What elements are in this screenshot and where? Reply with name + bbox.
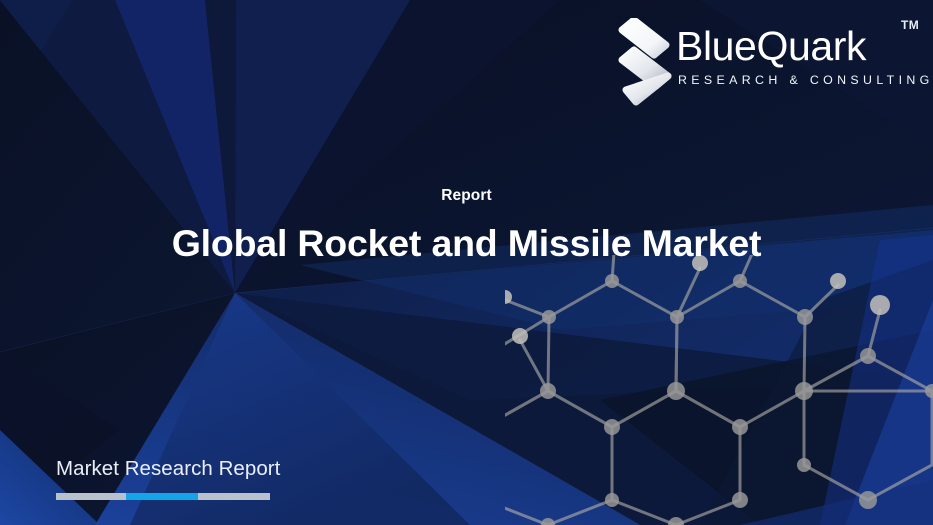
double-chevron-logo-icon xyxy=(618,18,680,106)
report-kicker-label: Report xyxy=(0,186,933,206)
report-cover-page: BlueQuark RESEARCH & CONSULTING TM Repor… xyxy=(0,0,933,525)
rule-segment-gray-left xyxy=(56,493,126,500)
footer-accent-rule xyxy=(56,493,270,500)
brand-name: BlueQuark xyxy=(676,22,914,70)
rule-segment-gray-right xyxy=(198,493,270,500)
brand-logo: BlueQuark RESEARCH & CONSULTING TM xyxy=(618,16,918,108)
brand-tagline: RESEARCH & CONSULTING xyxy=(676,72,914,88)
footer-block: Market Research Report xyxy=(56,456,476,500)
brand-wordmark: BlueQuark RESEARCH & CONSULTING xyxy=(676,22,914,88)
title-block: Report Global Rocket and Missile Market xyxy=(0,186,933,265)
page-title: Global Rocket and Missile Market xyxy=(0,221,933,265)
rule-segment-cyan xyxy=(126,493,198,500)
footer-label: Market Research Report xyxy=(56,456,476,482)
trademark-symbol: TM xyxy=(901,18,919,32)
